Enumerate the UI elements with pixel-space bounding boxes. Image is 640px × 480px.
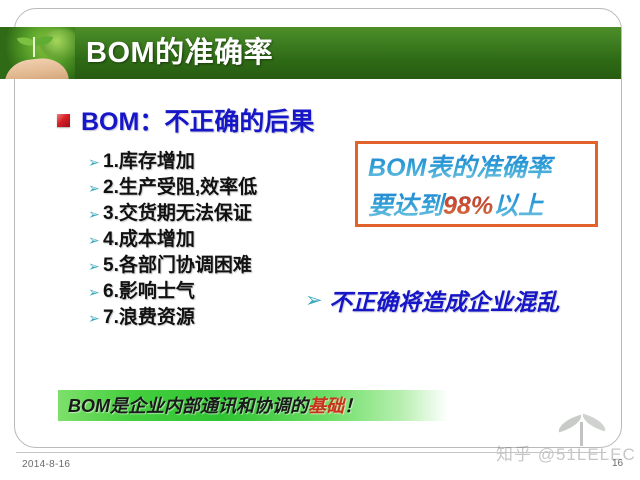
list-item: ➢ 5.各部门协调困难: [88, 250, 348, 276]
hand-holding-sprout-photo-icon: [0, 27, 75, 79]
summary-prefix: BOM是企业内部通讯和协调的: [68, 396, 308, 416]
chevron-right-arrow-icon: ➢: [88, 285, 101, 299]
chevron-right-arrow-icon: ➢: [88, 155, 101, 169]
section-heading: BOM：不正确的后果: [57, 102, 314, 138]
footer-divider: [16, 452, 606, 453]
callout-line-2-prefix: 要达到: [368, 192, 443, 220]
summary-band-text: BOM是企业内部通讯和协调的基础！: [68, 392, 362, 420]
list-item: ➢ 3.交货期无法保证: [88, 198, 348, 224]
chevron-right-arrow-icon: ➢: [88, 311, 101, 325]
callout-line-2: 要达到98%以上: [368, 187, 587, 225]
chevron-right-arrow-icon: ➢: [88, 233, 101, 247]
footer-date: 2014-8-16: [22, 459, 70, 470]
chevron-right-arrow-icon: ➢: [88, 259, 101, 273]
callout-line-2-suffix: 以上: [493, 192, 543, 220]
list-item: ➢ 2.生产受阻,效率低: [88, 172, 348, 198]
footer-page-number: 16: [612, 458, 623, 469]
section-heading-label: BOM：不正确的后果: [81, 102, 314, 138]
chevron-right-arrow-icon: ➢: [305, 290, 327, 311]
page-title: BOM的准确率: [86, 30, 273, 76]
summary-suffix: ！: [344, 396, 362, 416]
list-item-label: 7.浪费资源: [103, 302, 195, 329]
chevron-right-arrow-icon: ➢: [88, 207, 101, 221]
list-item-label: 5.各部门协调困难: [103, 250, 252, 277]
slide-canvas: BOM的准确率 BOM：不正确的后果 ➢ 1.库存增加 ➢ 2.生产受阻,效率低…: [0, 0, 640, 480]
list-item: ➢ 4.成本增加: [88, 224, 348, 250]
callout-line-1: BOM表的准确率: [368, 149, 587, 187]
watermark-leaf-right-icon: [580, 414, 608, 432]
callout-accent-value: 98%: [443, 192, 493, 220]
chevron-right-arrow-icon: ➢: [88, 181, 101, 195]
hand-icon: [3, 56, 70, 79]
sprout-stem-icon: [33, 37, 35, 57]
list-item-label: 1.库存增加: [103, 146, 195, 173]
list-item: ➢ 1.库存增加: [88, 146, 348, 172]
list-item-label: 2.生产受阻,效率低: [103, 172, 257, 199]
accuracy-target-callout: BOM表的准确率 要达到98%以上: [355, 141, 598, 227]
summary-accent: 基础: [308, 396, 344, 416]
list-item-label: 4.成本增加: [103, 224, 195, 251]
list-item-label: 3.交货期无法保证: [103, 198, 252, 225]
conclusion-statement-label: 不正确将造成企业混乱: [329, 283, 559, 317]
red-square-bullet-icon: [57, 114, 70, 127]
conclusion-statement: ➢ 不正确将造成企业混乱: [305, 283, 559, 317]
list-item-label: 6.影响士气: [103, 276, 195, 303]
